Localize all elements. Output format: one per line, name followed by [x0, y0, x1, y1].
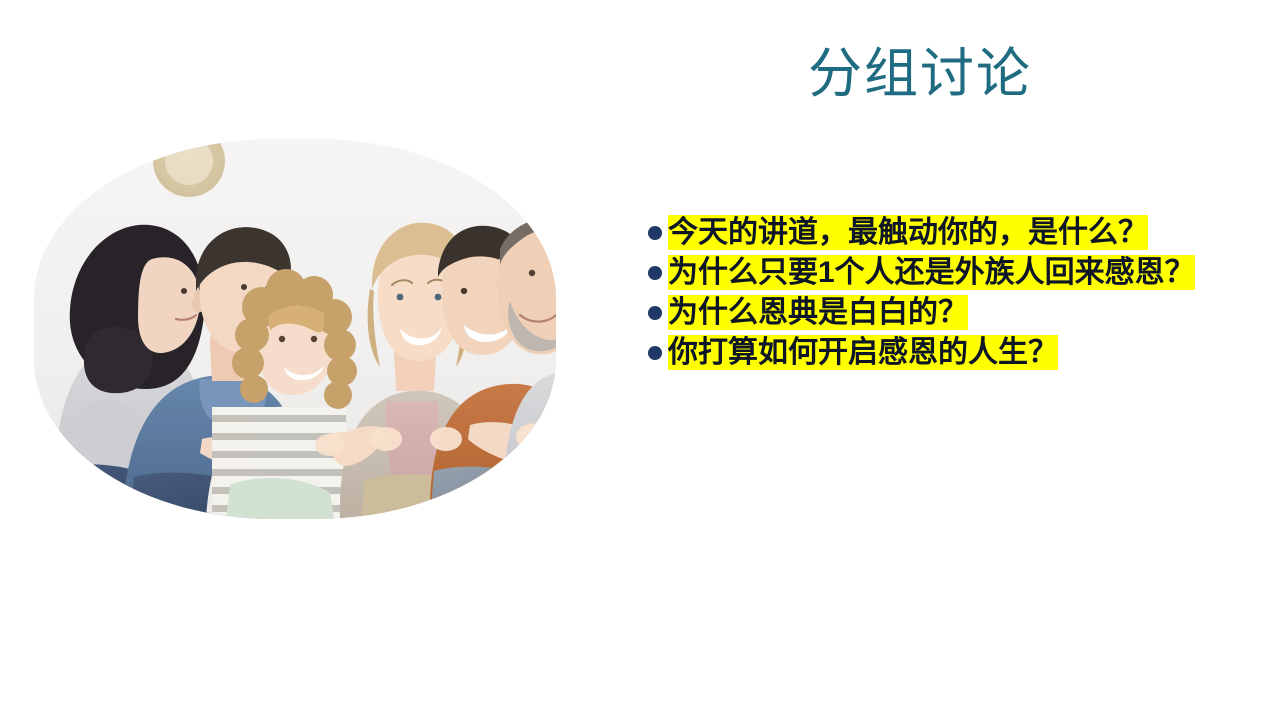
list-item-text: 你打算如何开启感恩的人生？ — [668, 334, 1204, 372]
group-discussion-photo — [34, 139, 556, 519]
bullet-dot-icon — [648, 226, 662, 240]
highlighted-text: 你打算如何开启感恩的人生？ — [668, 335, 1058, 370]
bullet-dot-icon — [648, 266, 662, 280]
highlighted-text: 为什么恩典是白白的？ — [668, 295, 968, 330]
photo-image — [34, 139, 556, 519]
list-item: 今天的讲道，最触动你的，是什么？ — [648, 214, 1204, 252]
list-item-text: 今天的讲道，最触动你的，是什么？ — [668, 214, 1204, 252]
bullet-dot-icon — [648, 306, 662, 320]
list-item: 为什么只要1个人还是外族人回来感恩？ — [648, 254, 1204, 292]
list-item: 为什么恩典是白白的？ — [648, 294, 1204, 332]
bullet-dot-icon — [648, 346, 662, 360]
highlighted-text: 为什么只要1个人还是外族人回来感恩？ — [668, 255, 1195, 290]
page-title: 分组讨论 — [600, 44, 1240, 104]
highlighted-text: 今天的讲道，最触动你的，是什么？ — [668, 215, 1148, 250]
list-item-text: 为什么只要1个人还是外族人回来感恩？ — [668, 254, 1204, 292]
list-item: 你打算如何开启感恩的人生？ — [648, 334, 1204, 372]
slide-root: 分组讨论 — [0, 0, 1280, 720]
list-item-text: 为什么恩典是白白的？ — [668, 294, 1204, 332]
discussion-questions-list: 今天的讲道，最触动你的，是什么？ 为什么只要1个人还是外族人回来感恩？ 为什么恩… — [648, 214, 1204, 374]
